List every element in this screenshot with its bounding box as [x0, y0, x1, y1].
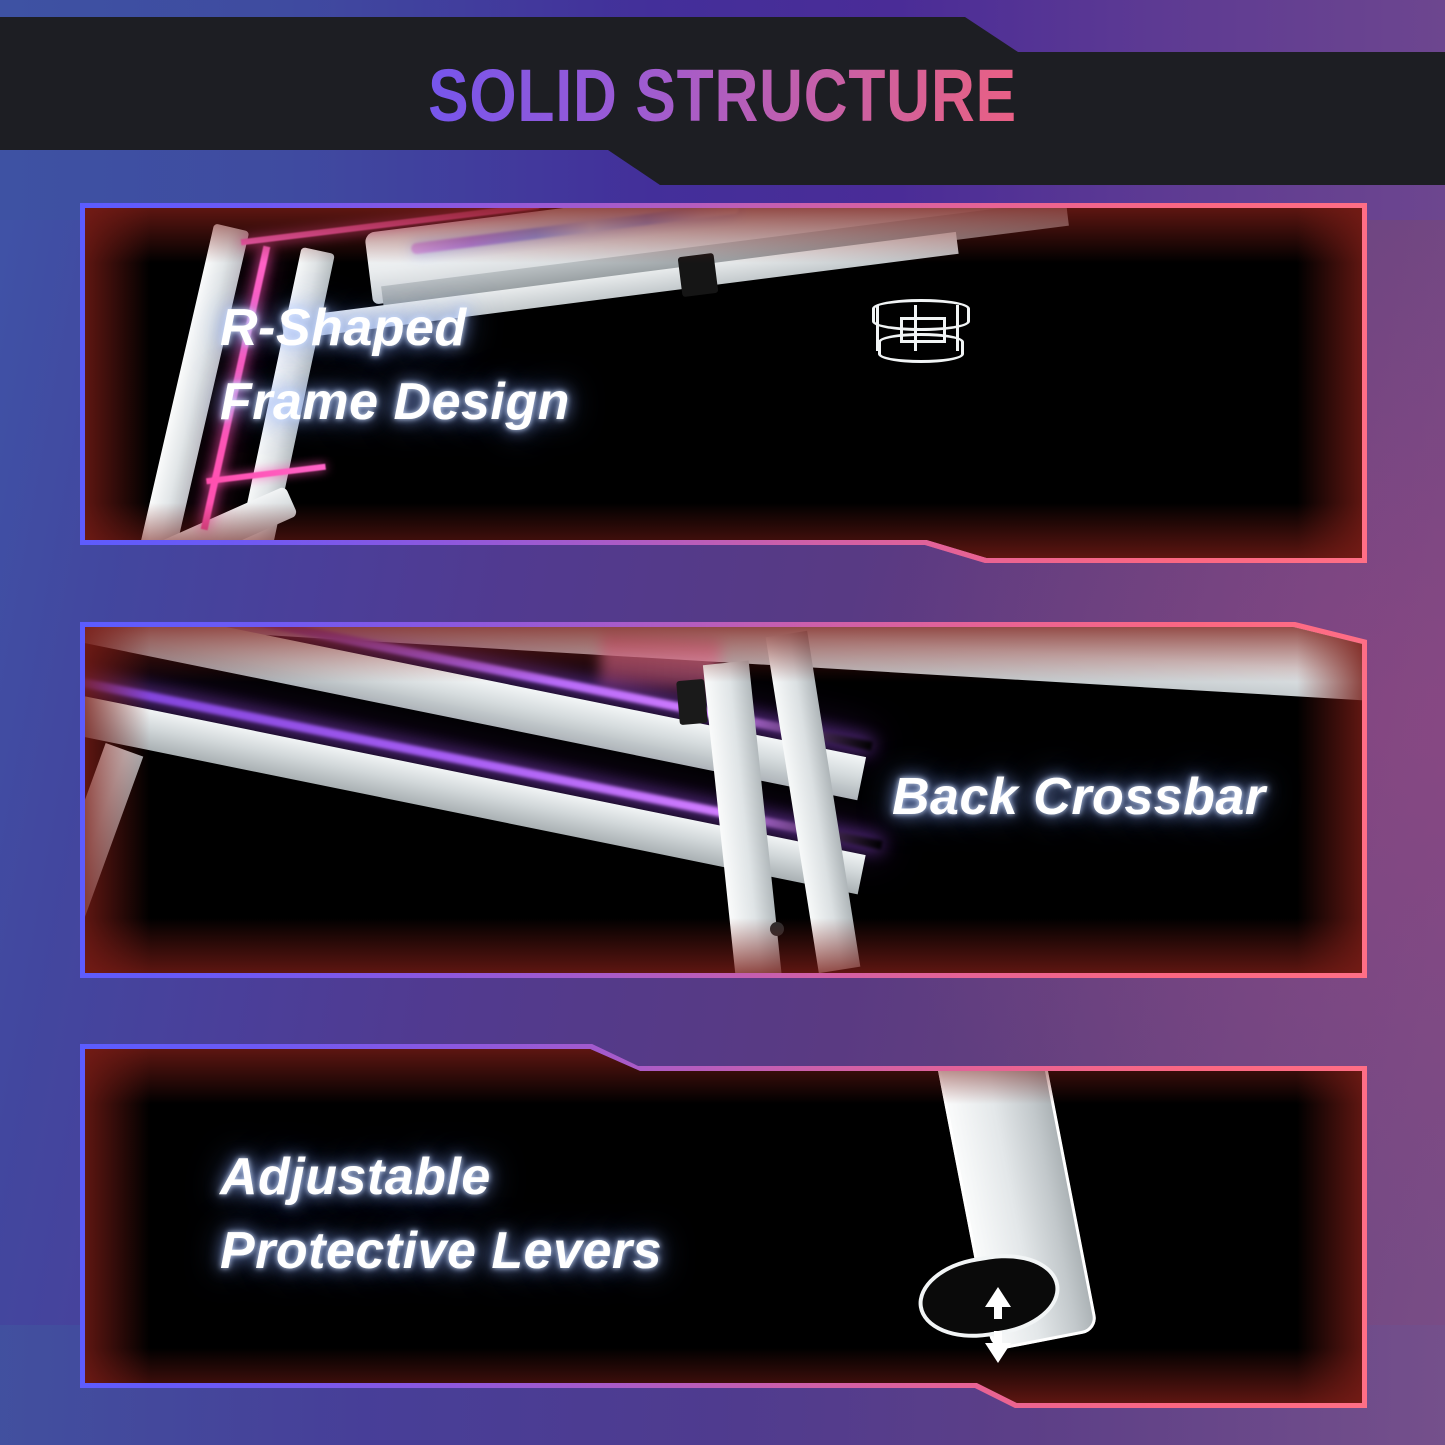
page-title: SOLID STRUCTURE: [130, 53, 1315, 139]
panel-back-crossbar: Back Crossbar: [80, 622, 1367, 978]
panel-adjustable-protective-levers: Adjustable Protective Levers: [80, 1044, 1367, 1408]
cable-clip: [678, 253, 719, 297]
panel-3-label: Adjustable Protective Levers: [220, 1140, 662, 1288]
panel-2-label: Back Crossbar: [892, 760, 1266, 834]
panel-2-inner: Back Crossbar: [80, 622, 1367, 978]
infographic-root: SOLID STRUCTURE: [0, 0, 1445, 1445]
bolt-icon: [770, 922, 784, 936]
panel-3-inner: Adjustable Protective Levers: [80, 1044, 1367, 1408]
up-down-arrow-icon: [984, 1287, 1012, 1363]
panel-r-shaped-frame: R-Shaped Frame Design: [80, 203, 1367, 563]
crossbar-leg-left: [80, 743, 143, 978]
panel-1-label: R-Shaped Frame Design: [220, 291, 570, 439]
cable-clip: [676, 679, 708, 725]
cup-holder-icon: [870, 293, 966, 367]
panel-1-inner: R-Shaped Frame Design: [80, 203, 1367, 563]
